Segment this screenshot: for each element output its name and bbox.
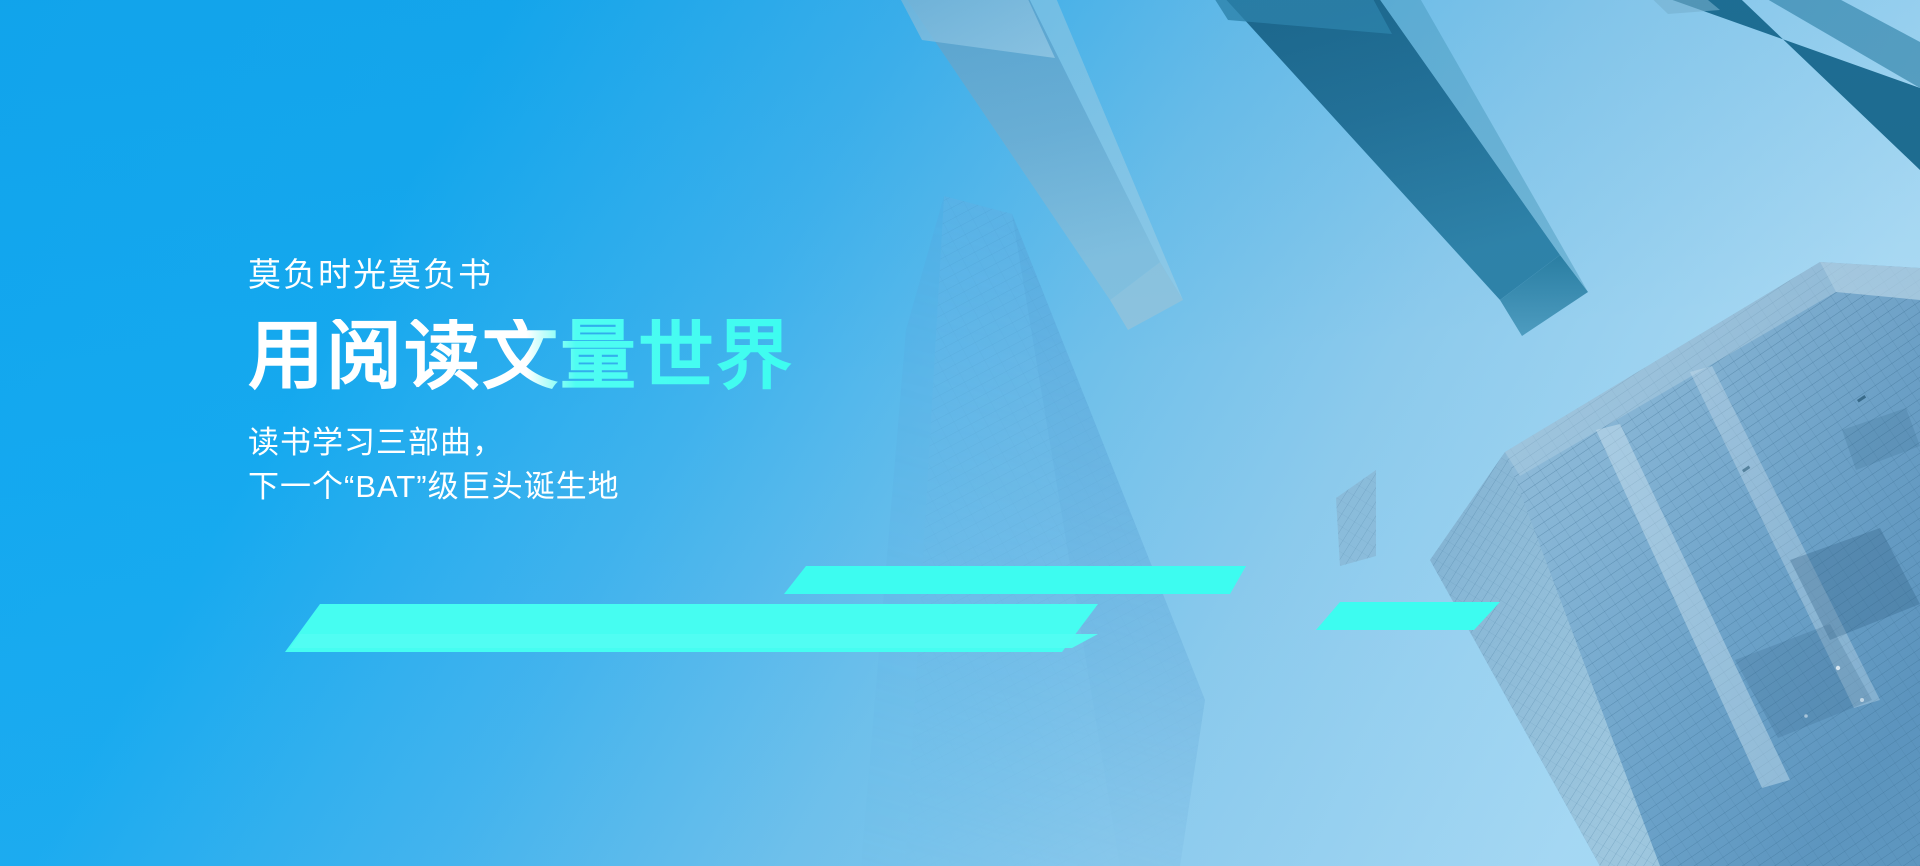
headline-text: 用阅读文量世界	[248, 319, 794, 395]
subtitle-line-2: 下一个“BAT”级巨头诞生地	[248, 465, 1148, 509]
subtitle-line-1: 读书学习三部曲，	[248, 421, 1148, 465]
eyebrow-text: 莫负时光莫负书	[248, 258, 1148, 291]
subtitle-block: 读书学习三部曲， 下一个“BAT”级巨头诞生地	[248, 421, 1148, 509]
hero-banner: 莫负时光莫负书 用阅读文量世界 读书学习三部曲， 下一个“BAT”级巨头诞生地	[0, 0, 1920, 866]
hero-copy: 莫负时光莫负书 用阅读文量世界 读书学习三部曲， 下一个“BAT”级巨头诞生地	[248, 258, 1148, 509]
